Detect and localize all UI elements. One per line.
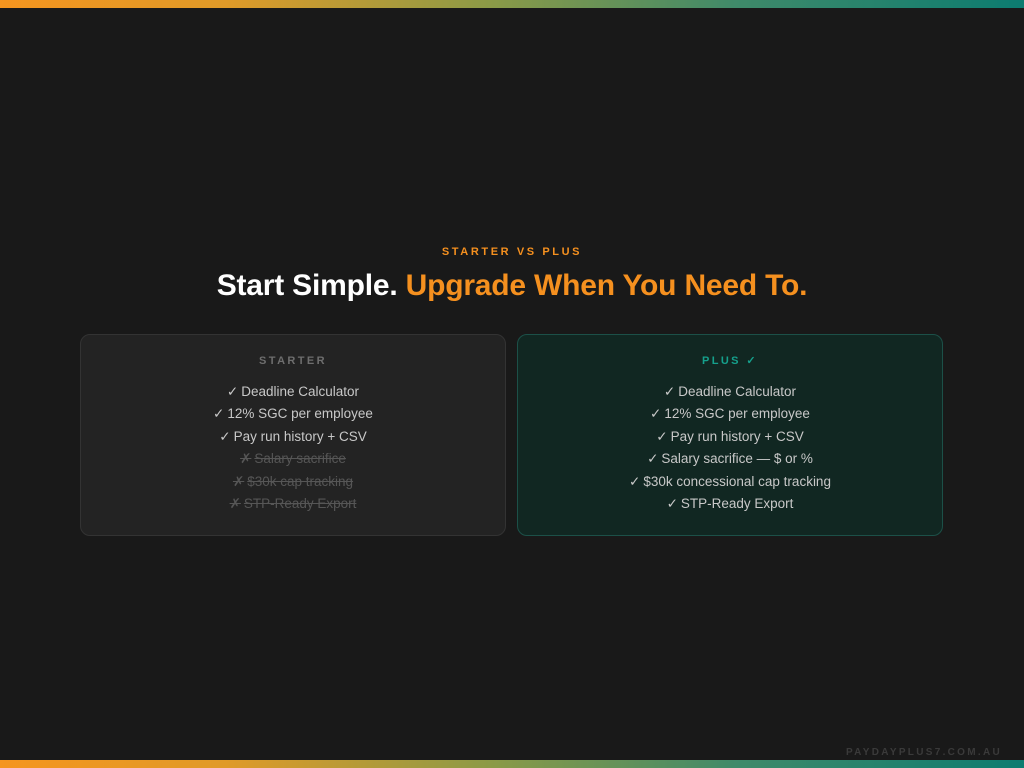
feature-item: ✓Pay run history + CSV [97,426,489,448]
feature-label: 12% SGC per employee [227,406,373,421]
feature-label: $30k concessional cap tracking [643,474,831,489]
page-stage: STARTER VS PLUS Start Simple. Upgrade Wh… [0,8,1024,760]
top-gradient-bar [0,0,1024,8]
feature-label: STP-Ready Export [244,496,357,511]
feature-item: ✗Salary sacrifice [97,448,489,470]
footer-site-url: PAYDAYPLUS7.COM.AU [846,746,1002,760]
bottom-gradient-bar [0,760,1024,768]
check-icon: ✓ [213,406,224,421]
check-icon: ✓ [656,429,667,444]
cross-icon: ✗ [230,496,241,511]
feature-item: ✗$30k cap tracking [97,471,489,493]
feature-label: Deadline Calculator [241,384,359,399]
section-eyebrow: STARTER VS PLUS [0,244,1024,260]
feature-label: Pay run history + CSV [234,429,367,444]
check-icon: ✓ [664,384,675,399]
check-icon: ✓ [647,451,658,466]
headline-plain-part: Start Simple. [217,269,406,302]
check-icon: ✓ [629,474,640,489]
feature-item: ✓12% SGC per employee [97,403,489,425]
check-icon: ✓ [667,496,678,511]
check-icon: ✓ [650,406,661,421]
feature-label: $30k cap tracking [247,474,353,489]
plan-card-starter[interactable]: STARTER ✓Deadline Calculator✓12% SGC per… [80,334,506,536]
feature-item: ✓Deadline Calculator [97,381,489,403]
feature-item: ✓STP-Ready Export [534,493,926,515]
plan-card-plus[interactable]: PLUS ✓ ✓Deadline Calculator✓12% SGC per … [517,334,943,536]
feature-item: ✓$30k concessional cap tracking [534,471,926,493]
cross-icon: ✗ [240,451,251,466]
feature-label: Salary sacrifice — $ or % [661,451,813,466]
feature-label: STP-Ready Export [681,496,794,511]
feature-label: Pay run history + CSV [671,429,804,444]
feature-label: Deadline Calculator [678,384,796,399]
feature-label: 12% SGC per employee [664,406,810,421]
feature-item: ✓Salary sacrifice — $ or % [534,448,926,470]
headline-accent-part: Upgrade When You Need To. [406,269,808,302]
plan-title-starter: STARTER [97,353,489,369]
check-icon: ✓ [227,384,238,399]
check-icon: ✓ [219,429,230,444]
comparison-section: STARTER VS PLUS Start Simple. Upgrade Wh… [0,244,1024,304]
plan-cards: STARTER ✓Deadline Calculator✓12% SGC per… [80,334,944,536]
cross-icon: ✗ [233,474,244,489]
plan-title-plus: PLUS ✓ [534,353,926,369]
feature-list-plus: ✓Deadline Calculator✓12% SGC per employe… [534,381,926,515]
feature-item: ✓12% SGC per employee [534,403,926,425]
page-title: Start Simple. Upgrade When You Need To. [0,268,1024,304]
feature-item: ✓Deadline Calculator [534,381,926,403]
feature-item: ✓Pay run history + CSV [534,426,926,448]
feature-item: ✗STP-Ready Export [97,493,489,515]
feature-list-starter: ✓Deadline Calculator✓12% SGC per employe… [97,381,489,515]
feature-label: Salary sacrifice [254,451,346,466]
